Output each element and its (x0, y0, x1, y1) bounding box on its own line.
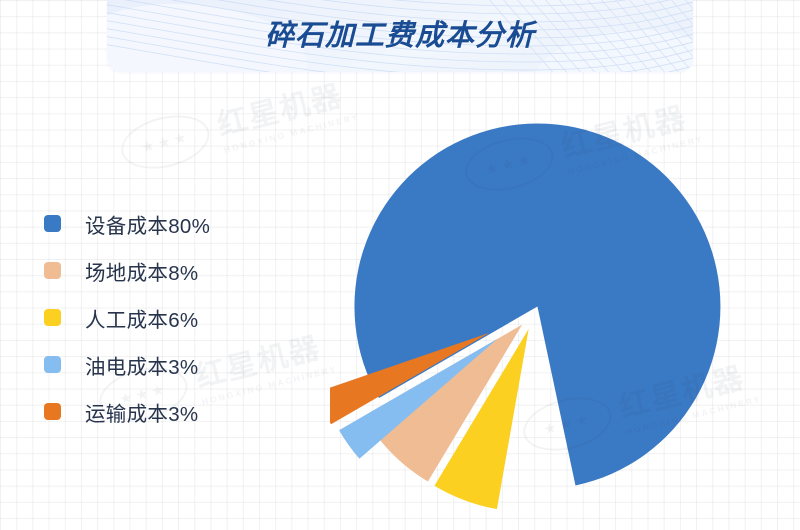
pie-chart (330, 100, 750, 520)
chart-legend: 设备成本80% 场地成本8% 人工成本6% 油电成本3% 运输成本3% (44, 200, 294, 435)
watermark-seal-icon: ★★★ (116, 106, 215, 176)
title-banner: 碎石加工费成本分析 (107, 0, 693, 72)
legend-label-transport: 运输成本3% (85, 397, 198, 427)
legend-label-site: 场地成本8% (85, 256, 198, 286)
watermark-brand-cn: 红星机器 (212, 71, 347, 145)
legend-label-fuel-power: 油电成本3% (85, 350, 198, 380)
legend-swatch-site (44, 262, 61, 279)
watermark-topleft: ★★★ 红星机器 HONGXING MACHINERY (115, 68, 361, 179)
legend-item-labor[interactable]: 人工成本6% (44, 294, 294, 341)
legend-swatch-labor (44, 309, 61, 326)
legend-item-fuel-power[interactable]: 油电成本3% (44, 341, 294, 388)
poster-canvas: 碎石加工费成本分析 设备成本80% 场地成本8% 人工成本6% 油电成本3% 运… (0, 0, 800, 530)
legend-swatch-transport (44, 403, 61, 420)
legend-label-labor: 人工成本6% (85, 303, 198, 333)
legend-item-site[interactable]: 场地成本8% (44, 247, 294, 294)
legend-swatch-fuel-power (44, 356, 61, 373)
legend-item-transport[interactable]: 运输成本3% (44, 388, 294, 435)
legend-swatch-equipment (44, 215, 61, 232)
page-title: 碎石加工费成本分析 (107, 0, 693, 72)
pie-chart-svg (330, 100, 750, 520)
legend-label-equipment: 设备成本80% (85, 209, 210, 239)
legend-item-equipment[interactable]: 设备成本80% (44, 200, 294, 247)
